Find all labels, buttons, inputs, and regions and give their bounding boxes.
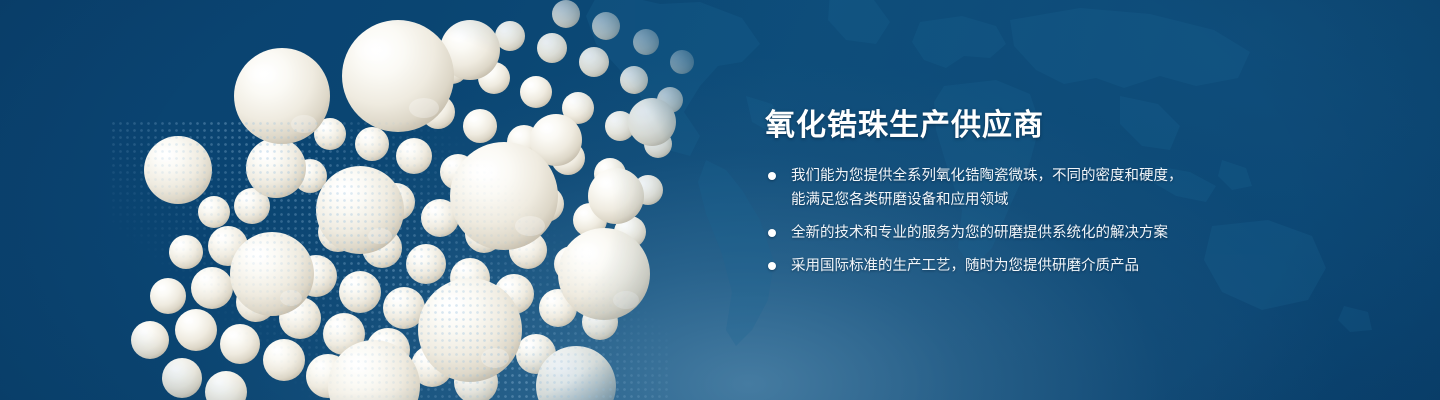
list-item-line: 全新的技术和专业的服务为您的研磨提供系统化的解决方案	[791, 221, 1405, 245]
bullet-dot-icon	[768, 262, 776, 270]
bullet-dot-icon	[768, 229, 776, 237]
banner-copy: 氧化锆珠生产供应商 我们能为您提供全系列氧化锆陶瓷微珠，不同的密度和硬度， 能满…	[765, 106, 1405, 278]
list-item-line: 我们能为您提供全系列氧化锆陶瓷微珠，不同的密度和硬度，	[791, 164, 1405, 188]
list-item: 采用国际标准的生产工艺，随时为您提供研磨介质产品	[765, 254, 1405, 278]
page-title: 氧化锆珠生产供应商	[765, 106, 1405, 146]
bullet-dot-icon	[768, 172, 776, 180]
list-item: 我们能为您提供全系列氧化锆陶瓷微珠，不同的密度和硬度， 能满足您各类研磨设备和应…	[765, 164, 1405, 212]
list-item: 全新的技术和专业的服务为您的研磨提供系统化的解决方案	[765, 221, 1405, 245]
zirconia-beads-image	[0, 0, 760, 400]
hero-banner: 氧化锆珠生产供应商 我们能为您提供全系列氧化锆陶瓷微珠，不同的密度和硬度， 能满…	[0, 0, 1440, 400]
list-item-line: 采用国际标准的生产工艺，随时为您提供研磨介质产品	[791, 254, 1405, 278]
feature-list: 我们能为您提供全系列氧化锆陶瓷微珠，不同的密度和硬度， 能满足您各类研磨设备和应…	[765, 164, 1405, 278]
list-item-line: 能满足您各类研磨设备和应用领域	[791, 188, 1405, 212]
